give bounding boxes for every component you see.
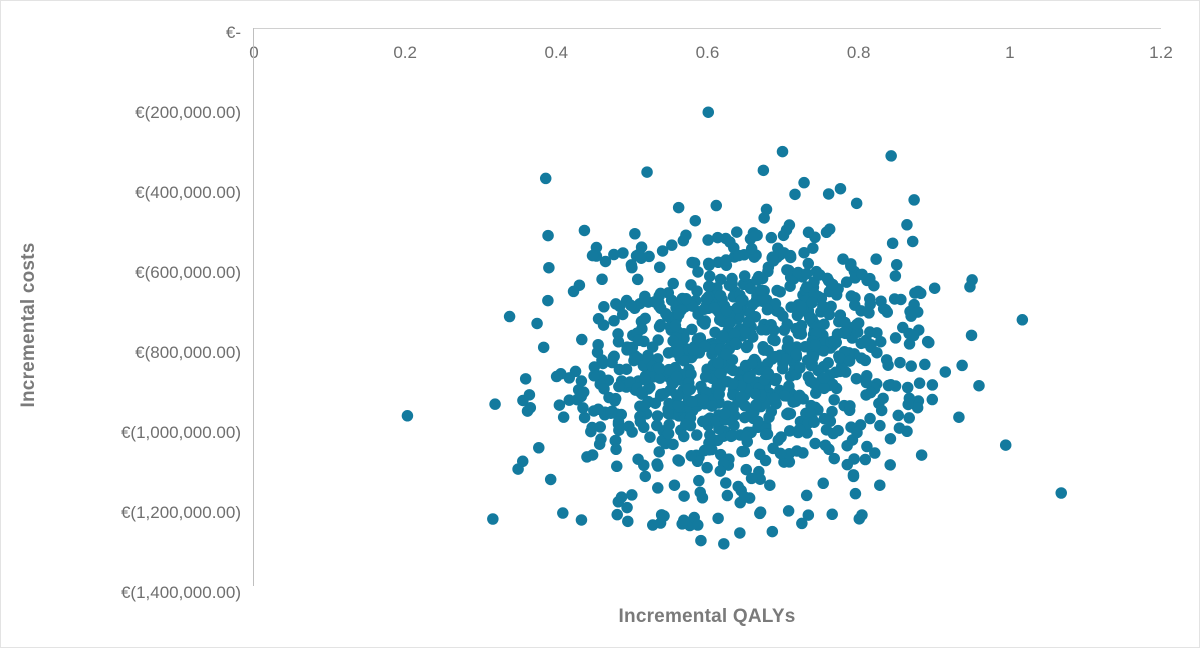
scatter-point	[841, 440, 853, 452]
scatter-point	[691, 285, 703, 297]
scatter-point	[814, 269, 826, 281]
scatter-point	[640, 471, 652, 483]
scatter-point	[730, 338, 742, 350]
scatter-point	[678, 515, 690, 527]
scatter-point	[657, 245, 669, 256]
scatter-point	[699, 303, 711, 315]
scatter-point	[940, 366, 952, 378]
scatter-point	[794, 424, 806, 436]
scatter-point	[538, 342, 550, 354]
scatter-point	[545, 474, 557, 486]
scatter-point	[758, 165, 770, 177]
scatter-point	[856, 509, 868, 521]
scatter-point	[848, 471, 860, 483]
scatter-point	[773, 434, 785, 446]
scatter-point	[832, 328, 844, 340]
scatter-point	[703, 444, 715, 456]
scatter-point	[908, 194, 920, 206]
scatter-point	[690, 215, 702, 227]
scatter-point	[621, 363, 633, 375]
scatter-point	[691, 429, 703, 441]
scatter-point	[871, 347, 883, 359]
scatter-point	[669, 479, 681, 491]
scatter-point	[712, 232, 724, 244]
scatter-point	[672, 454, 684, 466]
scatter-point	[916, 449, 928, 461]
scatter-point	[864, 299, 876, 311]
scatter-point	[819, 413, 831, 425]
scatter-point	[712, 513, 724, 525]
scatter-point	[635, 387, 647, 399]
scatter-point	[732, 481, 744, 493]
scatter-point	[699, 318, 711, 330]
scatter-point	[725, 431, 737, 443]
scatter-point	[804, 406, 816, 418]
scatter-point	[885, 433, 897, 445]
scatter-point	[616, 491, 628, 503]
scatter-point	[755, 506, 767, 518]
scatter-point	[818, 383, 830, 395]
scatter-point	[655, 319, 667, 331]
scatter-point	[703, 106, 715, 118]
scatter-point	[746, 358, 758, 370]
scatter-point	[766, 232, 778, 244]
scatter-point	[686, 257, 698, 269]
scatter-point	[902, 382, 914, 394]
scatter-point	[610, 435, 622, 447]
scatter-point	[956, 360, 968, 372]
scatter-point	[715, 465, 727, 477]
scatter-point	[678, 235, 690, 247]
scatter-point	[626, 259, 638, 271]
scatter-point	[824, 223, 836, 235]
scatter-point	[839, 317, 851, 329]
scatter-point	[810, 339, 822, 351]
scatter-point	[647, 519, 659, 531]
scatter-point	[890, 332, 902, 344]
scatter-point	[890, 270, 902, 282]
scatter-point	[860, 389, 872, 401]
scatter-point	[827, 279, 839, 291]
scatter-point	[760, 455, 772, 467]
scatter-point	[837, 253, 849, 265]
scatter-point	[719, 408, 731, 420]
scatter-point	[771, 373, 783, 385]
scatter-point	[736, 446, 748, 458]
scatter-point	[727, 378, 739, 390]
scatter-point	[750, 399, 762, 411]
scatter-point	[801, 268, 813, 280]
scatter-point	[851, 373, 863, 385]
scatter-point	[875, 336, 887, 348]
scatter-point	[587, 250, 599, 262]
scatter-point	[794, 390, 806, 402]
scatter-point	[795, 301, 807, 313]
scatter-point	[540, 173, 552, 185]
scatter-point	[778, 230, 790, 242]
scatter-point	[768, 255, 780, 266]
scatter-point	[717, 330, 729, 342]
scatter-point	[820, 439, 832, 451]
scatter-point	[608, 249, 620, 261]
scatter-point	[733, 250, 745, 261]
scatter-point	[893, 410, 905, 422]
scatter-point	[593, 404, 605, 416]
scatter-point	[768, 325, 780, 337]
scatter-point	[834, 352, 846, 364]
scatter-point	[876, 405, 888, 417]
scatter-point	[667, 278, 679, 290]
scatter-point	[894, 357, 906, 369]
scatter-point	[964, 281, 976, 293]
scatter-point	[769, 393, 781, 405]
scatter-point	[835, 183, 847, 195]
scatter-point	[747, 299, 759, 311]
scatter-point	[880, 304, 892, 316]
scatter-point	[777, 310, 789, 322]
scatter-point	[826, 509, 838, 521]
scatter-point	[1055, 487, 1067, 499]
scatter-point	[828, 453, 840, 465]
scatter-point	[805, 376, 817, 388]
scatter-point	[883, 380, 895, 392]
scatter-point	[796, 328, 808, 340]
scatter-point	[742, 316, 754, 328]
scatter-point	[652, 460, 664, 472]
scatter-point	[673, 202, 685, 214]
scatter-point	[402, 410, 414, 422]
scatter-point	[697, 492, 709, 504]
scatter-point	[647, 341, 659, 353]
scatter-point	[735, 295, 747, 307]
scatter-point	[673, 346, 685, 358]
scatter-point	[613, 336, 625, 348]
scatter-point	[542, 230, 554, 242]
scatter-point	[856, 269, 868, 281]
scatter-point	[724, 236, 736, 248]
scatter-point	[905, 310, 917, 322]
scatter-point	[617, 309, 629, 321]
scatter-point	[632, 453, 644, 465]
scatter-point	[802, 355, 814, 367]
scatter-point	[775, 448, 787, 460]
scatter-point	[578, 386, 590, 398]
scatter-point	[551, 371, 563, 383]
scatter-point	[692, 519, 704, 531]
scatter-point	[817, 300, 829, 312]
scatter-point	[621, 344, 633, 356]
scatter-point	[894, 422, 906, 434]
scatter-point	[558, 411, 570, 423]
scatter-point	[797, 447, 809, 459]
scatter-point	[680, 419, 692, 431]
scatter-point	[531, 318, 543, 330]
scatter-point	[682, 384, 694, 396]
scatter-point	[929, 282, 941, 294]
scatter-point	[808, 416, 820, 428]
scatter-point	[851, 427, 863, 439]
scatter-point	[806, 297, 818, 309]
scatter-point	[703, 259, 715, 271]
scatter-point	[638, 422, 650, 434]
scatter-point	[927, 394, 939, 406]
scatter-point	[598, 383, 610, 395]
scatter-point	[885, 150, 897, 162]
scatter-point	[639, 400, 651, 412]
scatter-point	[639, 313, 651, 325]
scatter-point	[625, 300, 637, 312]
scatter-point	[909, 287, 921, 299]
scatter-point	[609, 395, 621, 407]
scatter-point	[588, 370, 600, 382]
scatter-point	[621, 502, 633, 513]
scatter-point	[853, 317, 865, 329]
scatter-point	[746, 473, 758, 485]
scatter-point	[919, 359, 931, 371]
scatter-point	[654, 363, 666, 375]
scatter-point	[564, 394, 576, 406]
scatter-point	[715, 290, 727, 302]
scatter-point	[908, 330, 920, 342]
scatter-point	[791, 349, 803, 361]
scatter-point	[693, 475, 705, 487]
scatter-point	[832, 425, 844, 437]
scatter-point	[709, 302, 721, 314]
scatter-point	[697, 416, 709, 428]
scatter-point	[586, 422, 598, 434]
scatter-point	[654, 262, 666, 274]
scatter-point	[667, 439, 679, 451]
scatter-point	[517, 456, 529, 468]
scatter-point	[846, 290, 858, 302]
scatter-point	[818, 372, 830, 384]
scatter-point	[741, 431, 753, 443]
scatter-point	[611, 509, 623, 521]
scatter-point	[702, 234, 714, 246]
scatter-point	[713, 388, 725, 400]
scatter-point	[720, 349, 732, 361]
scatter-point	[504, 311, 515, 323]
scatter-point	[576, 514, 588, 526]
scatter-point	[706, 400, 718, 412]
scatter-point	[629, 228, 641, 240]
scatter-point	[678, 490, 690, 502]
scatter-point	[850, 488, 862, 500]
scatter-point	[844, 355, 856, 367]
scatter-point	[635, 252, 647, 263]
scatter-point	[966, 330, 978, 342]
scatter-point	[877, 393, 889, 405]
scatter-point	[568, 286, 580, 298]
scatter-point	[798, 177, 810, 189]
scatter-point	[703, 280, 715, 292]
scatter-point	[751, 274, 763, 286]
scatter-point	[594, 438, 606, 450]
scatter-point	[923, 337, 935, 349]
scatter-point	[658, 510, 670, 522]
scatter-point	[973, 380, 985, 392]
scatter-point	[701, 293, 713, 305]
scatter-point	[851, 198, 863, 210]
scatter-point	[804, 312, 816, 324]
scatter-point	[613, 424, 625, 436]
scatter-point	[897, 322, 909, 334]
scatter-point	[746, 243, 758, 255]
scatter-point	[641, 166, 653, 178]
scatter-points-layer	[254, 29, 1161, 589]
scatter-point	[596, 354, 608, 366]
scatter-point	[739, 326, 751, 338]
scatter-point	[783, 505, 795, 517]
scatter-point	[611, 461, 623, 473]
scatter-point	[712, 357, 724, 369]
scatter-point	[823, 188, 835, 200]
scatter-point	[874, 479, 886, 491]
scatter-point	[489, 398, 501, 410]
scatter-point	[779, 390, 791, 402]
scatter-point	[785, 301, 797, 313]
scatter-point	[724, 317, 736, 329]
scatter-point	[821, 424, 833, 436]
scatter-point	[579, 412, 591, 424]
scatter-point	[633, 335, 645, 347]
scatter-point	[680, 293, 692, 305]
scatter-point	[700, 371, 712, 383]
scatter-point	[760, 429, 772, 441]
scatter-point	[720, 477, 732, 489]
scatter-point	[785, 408, 797, 420]
scatter-point	[670, 320, 682, 332]
scatter-point	[731, 226, 743, 238]
scatter-point	[869, 447, 881, 459]
scatter-point	[626, 489, 638, 501]
scatter-point	[750, 230, 762, 242]
scatter-point	[734, 527, 746, 539]
scatter-point	[517, 395, 529, 407]
scatter-point	[844, 400, 856, 412]
scatter-point	[784, 219, 796, 231]
scatter-point	[828, 394, 840, 406]
scatter-point	[543, 262, 555, 274]
scatter-point	[803, 227, 815, 239]
scatter-point	[554, 399, 566, 411]
scatter-point	[726, 273, 738, 285]
scatter-point	[663, 347, 675, 359]
scatter-point	[671, 371, 683, 383]
scatter-point	[755, 284, 767, 296]
scatter-point	[779, 324, 791, 336]
scatter-point	[796, 518, 808, 530]
scatter-point	[767, 526, 779, 538]
scatter-point	[722, 490, 734, 502]
scatter-point	[593, 313, 605, 325]
scatter-point	[907, 236, 919, 248]
scatter-point	[953, 411, 965, 423]
scatter-point	[884, 459, 896, 471]
scatter-point	[639, 374, 651, 386]
scatter-point	[652, 482, 664, 494]
scatter-point	[914, 377, 926, 389]
scatter-point	[769, 335, 781, 347]
scatter-point	[557, 507, 569, 519]
scatter-point	[770, 351, 782, 363]
scatter-point	[762, 304, 774, 316]
scatter-point	[720, 254, 732, 266]
scatter-point	[626, 426, 638, 438]
scatter-point	[577, 402, 589, 414]
scatter-point	[903, 412, 915, 424]
scatter-point	[613, 381, 625, 393]
scatter-point	[576, 375, 588, 387]
scatter-point	[606, 357, 618, 369]
scatter-point	[764, 479, 776, 491]
scatter-point	[859, 337, 871, 349]
scatter-point	[605, 407, 617, 419]
scatter-point	[780, 354, 792, 366]
scatter-point	[721, 305, 733, 317]
scatter-point	[891, 259, 903, 271]
scatter-point	[579, 225, 591, 237]
scatter-point	[655, 288, 667, 300]
scatter-point	[711, 200, 723, 212]
scatter-point	[905, 360, 917, 372]
scatter-point	[1017, 314, 1029, 326]
scatter-point	[673, 309, 685, 321]
scatter-point	[704, 270, 716, 282]
scatter-point	[739, 491, 751, 503]
scatter-point	[671, 389, 683, 401]
scatter-point	[520, 373, 532, 385]
scatter-point	[743, 372, 755, 384]
scatter-point	[860, 355, 872, 367]
scatter-point	[672, 399, 684, 411]
scatter-point	[778, 247, 790, 259]
scatter-chart-figure: Incremental costs Incremental QALYs €-€(…	[0, 0, 1200, 648]
scatter-point	[749, 388, 761, 400]
scatter-point	[581, 451, 593, 463]
scatter-point	[658, 388, 670, 400]
scatter-point	[533, 442, 545, 454]
scatter-point	[817, 478, 829, 490]
scatter-point	[798, 247, 810, 258]
scatter-point	[739, 412, 751, 424]
scatter-point	[576, 334, 588, 346]
scatter-point	[662, 408, 674, 420]
scatter-point	[718, 538, 730, 550]
scatter-point	[663, 428, 675, 440]
scatter-point	[622, 516, 634, 528]
plot-area	[254, 29, 1161, 589]
scatter-point	[861, 377, 873, 389]
scatter-point	[644, 431, 656, 443]
scatter-point	[739, 270, 751, 282]
scatter-point	[741, 342, 753, 354]
scatter-point	[901, 219, 913, 231]
scatter-point	[874, 420, 886, 432]
scatter-point	[789, 189, 801, 201]
scatter-point	[1000, 439, 1012, 451]
scatter-point	[542, 295, 554, 307]
scatter-point	[686, 396, 698, 408]
scatter-point	[887, 238, 899, 250]
scatter-point	[695, 535, 707, 547]
scatter-point	[902, 399, 914, 411]
scatter-point	[752, 416, 764, 428]
scatter-point	[868, 280, 880, 292]
scatter-point	[727, 365, 739, 377]
scatter-point	[763, 412, 775, 424]
scatter-point	[487, 513, 499, 525]
